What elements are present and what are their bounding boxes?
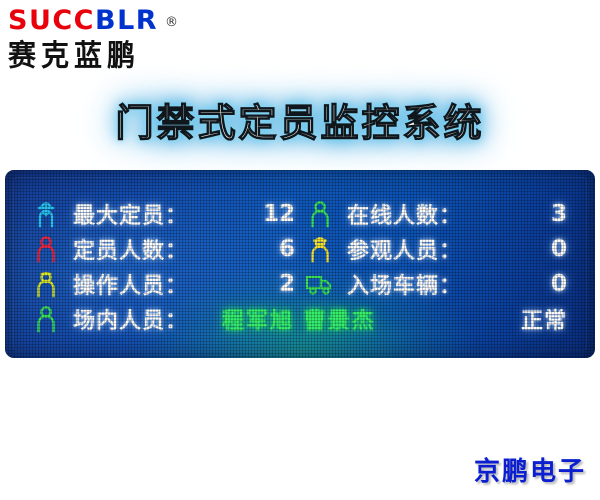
registered-trademark-icon: ® <box>165 8 180 38</box>
led-value-operators: 2 <box>279 271 295 297</box>
led-label-vehicles: 入场车辆： <box>347 268 462 300</box>
brand-logo: SUCCBLR ® 赛克蓝鹏 <box>8 6 238 76</box>
led-label-registered-count: 定员人数： <box>73 233 188 265</box>
led-label-onsite-personnel: 场内人员： <box>73 303 188 335</box>
led-value-visitors: 0 <box>551 236 567 262</box>
status-badge: 正常 <box>521 303 567 335</box>
person-icon <box>31 234 61 264</box>
led-value-onsite-personnel-names: 程军旭 曹景杰 <box>222 303 376 335</box>
led-row-vehicles: 入场车辆： 0 <box>305 266 573 301</box>
led-row-operators: 操作人员： 2 <box>31 266 301 301</box>
led-right-column: 在线人数： 3 参观人员： 0 <box>305 196 573 301</box>
led-value-max-capacity: 12 <box>263 201 295 227</box>
person-visitor-icon <box>305 234 335 264</box>
footer-brand: 京鹏电子 <box>474 451 586 488</box>
page-title: 门禁式定员监控系统 <box>0 92 600 147</box>
brand-chinese-name: 赛克蓝鹏 <box>8 38 238 74</box>
person-icon <box>305 199 335 229</box>
brand-wordmark: SUCCBLR ® <box>8 6 238 36</box>
led-value-online-count: 3 <box>551 201 567 227</box>
led-row-registered-count: 定员人数： 6 <box>31 231 301 266</box>
person-icon <box>31 304 61 334</box>
led-value-registered-count: 6 <box>279 236 295 262</box>
truck-icon <box>305 269 335 299</box>
led-label-max-capacity: 最大定员： <box>73 198 188 230</box>
led-row-onsite-personnel: 场内人员： 程军旭 曹景杰 正常 <box>31 301 573 336</box>
led-row-visitors: 参观人员： 0 <box>305 231 573 266</box>
led-row-max-capacity: 最大定员： 12 <box>31 196 301 231</box>
led-left-column: 最大定员： 12 定员人数： 6 <box>31 196 301 301</box>
person-hardhat-icon <box>31 269 61 299</box>
brand-wordmark-part1: SUCC <box>8 5 95 36</box>
led-row-online-count: 在线人数： 3 <box>305 196 573 231</box>
led-label-visitors: 参观人员： <box>347 233 462 265</box>
brand-wordmark-part2: BLR <box>95 5 158 36</box>
led-display-panel: 最大定员： 12 定员人数： 6 <box>5 170 595 358</box>
led-value-vehicles: 0 <box>551 271 567 297</box>
person-hardhat-icon <box>31 199 61 229</box>
led-label-operators: 操作人员： <box>73 268 188 300</box>
led-label-online-count: 在线人数： <box>347 198 462 230</box>
